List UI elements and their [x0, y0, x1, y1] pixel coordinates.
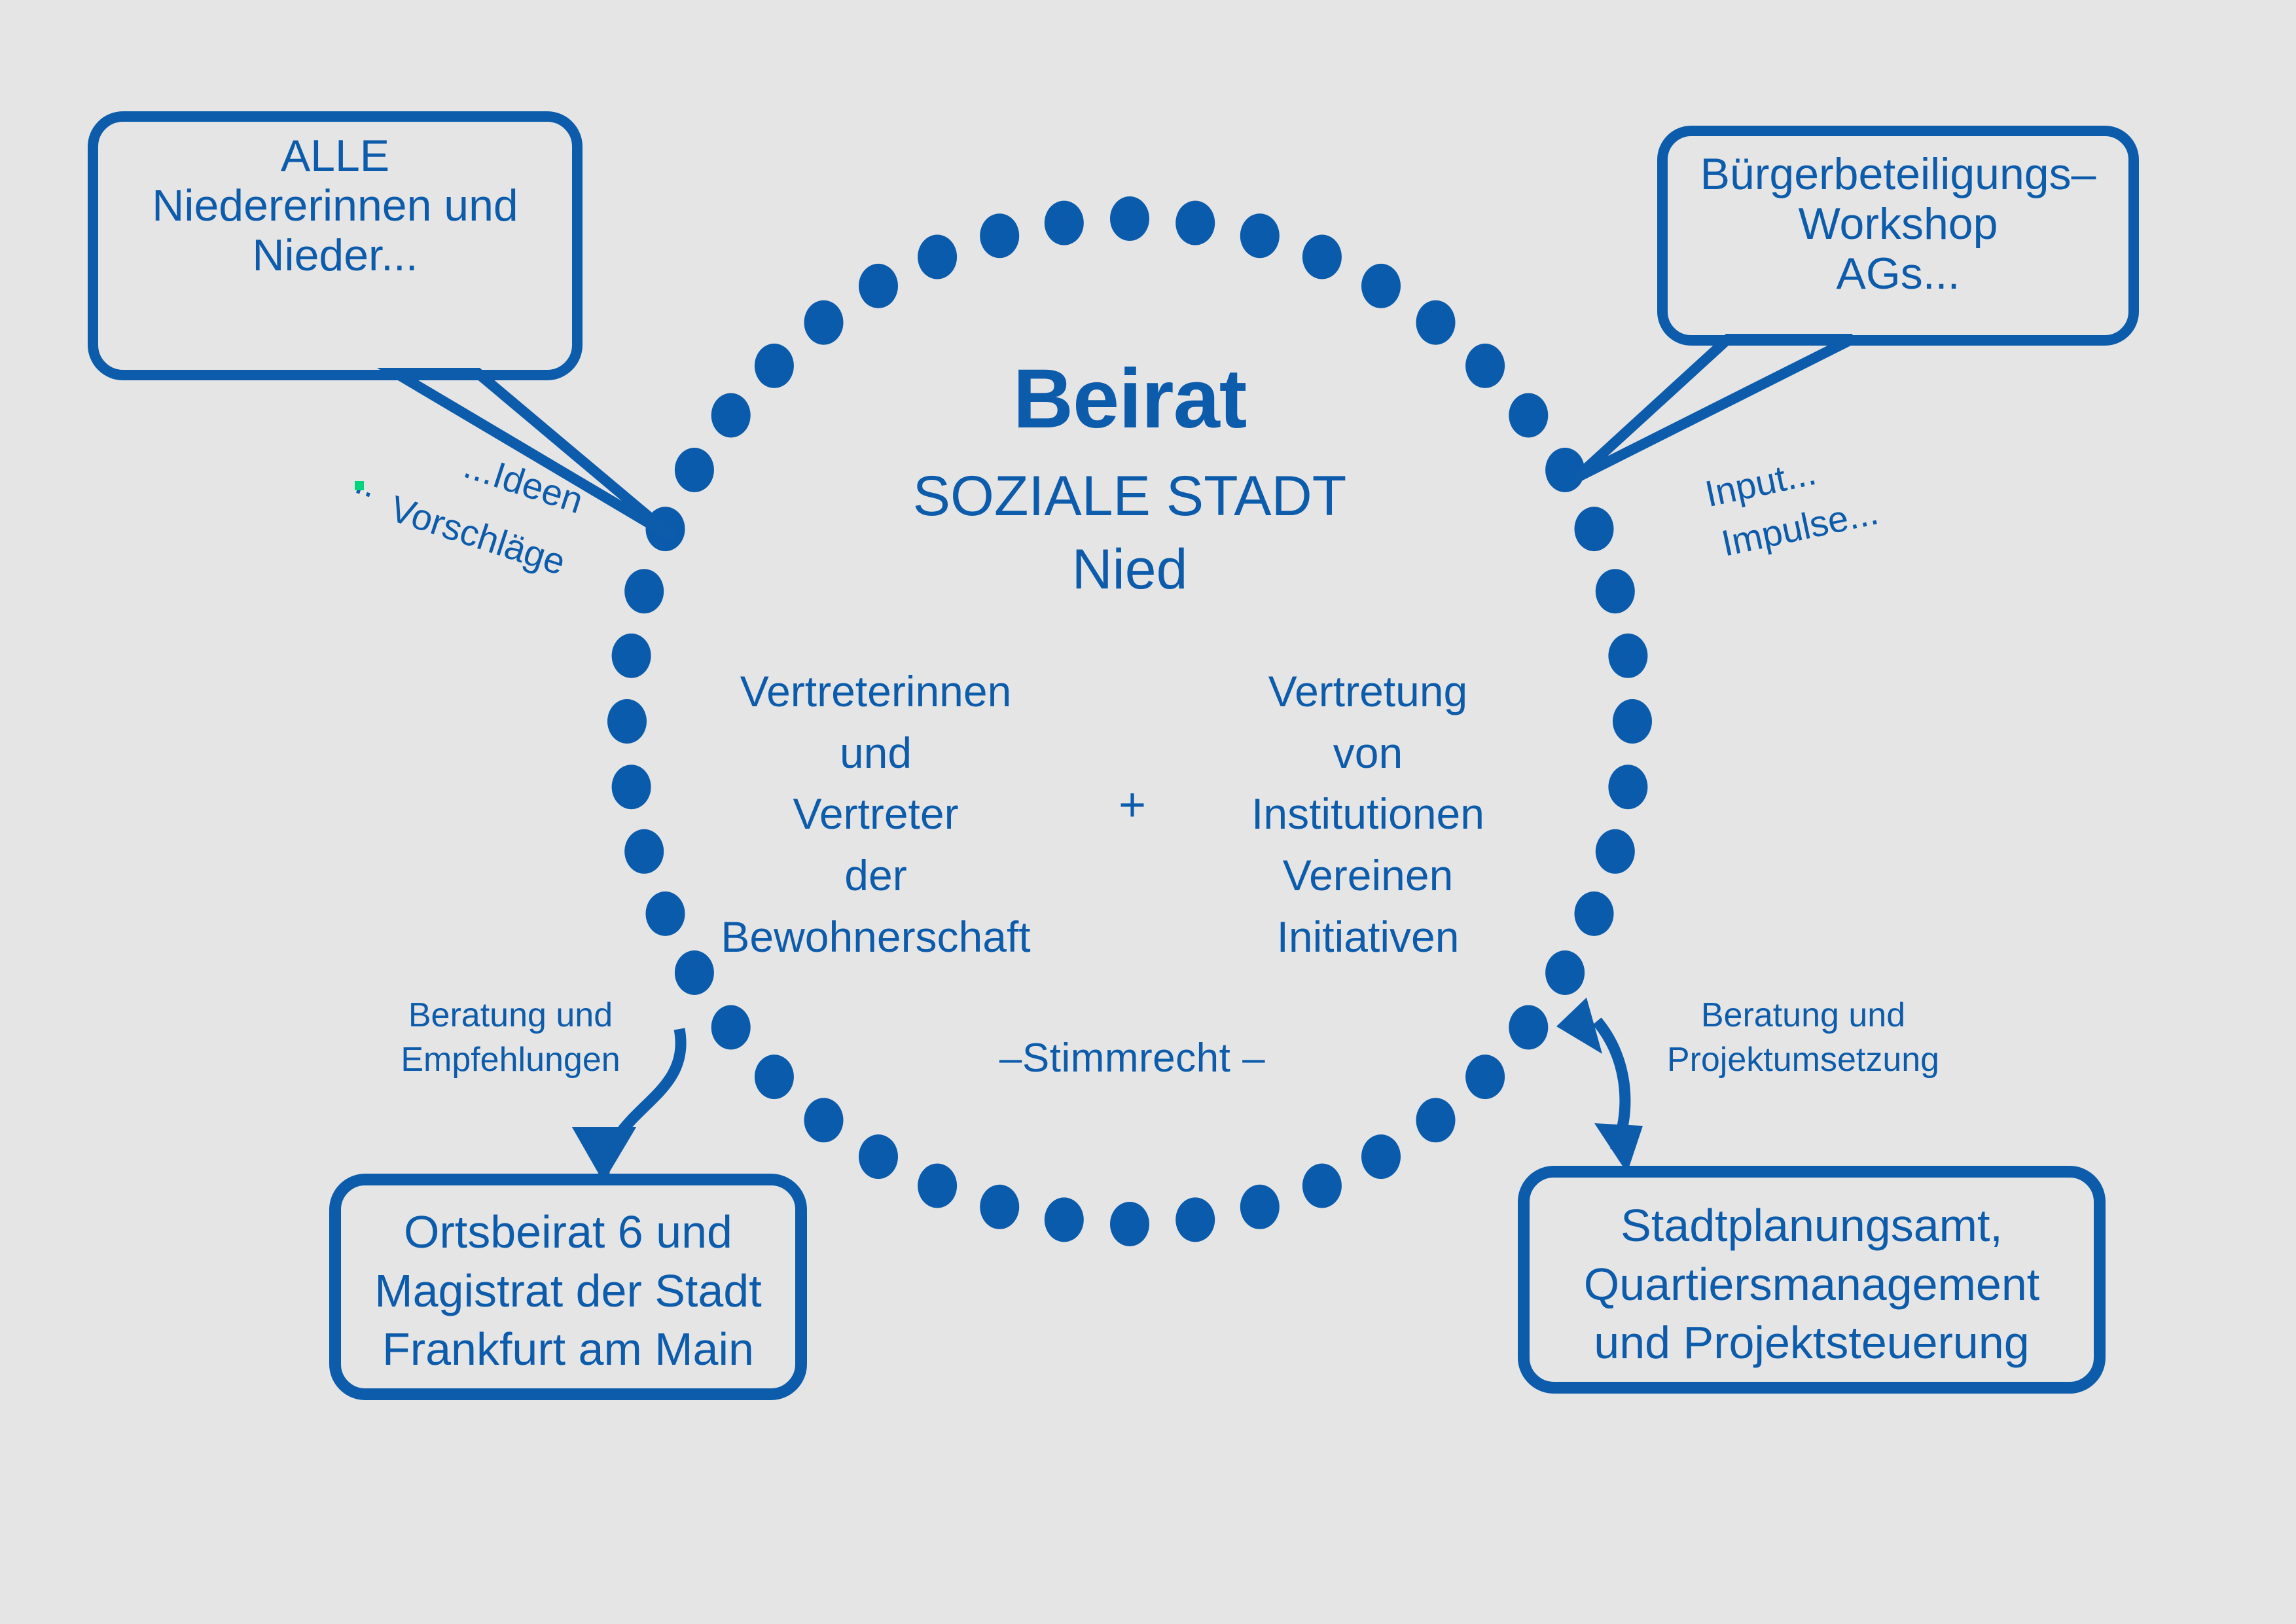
box-bottom-right-text: Stadtplanungsamt, Quartiersmanagement un…	[1524, 1197, 2100, 1373]
circle-dot	[1613, 699, 1652, 744]
circle-dot	[612, 765, 651, 809]
circle-dot	[918, 1164, 957, 1208]
circle-dot	[804, 1098, 844, 1142]
circle-dot	[755, 1055, 794, 1099]
circle-dot	[1575, 507, 1614, 551]
circle-dot	[1465, 1055, 1505, 1099]
circle-dot	[1110, 196, 1149, 241]
circle-dot	[980, 1185, 1019, 1229]
circle-dot	[607, 699, 647, 744]
circle-dot	[859, 1134, 898, 1179]
circle-dot	[646, 892, 685, 936]
circle-dot	[1175, 1197, 1215, 1242]
circle-dot	[1416, 300, 1456, 345]
circle-dot	[624, 569, 664, 613]
circle-dot	[980, 213, 1019, 258]
circle-dot	[1575, 892, 1614, 936]
circle-dot	[1110, 1202, 1149, 1246]
circle-dot	[1302, 235, 1342, 280]
circle-dot	[1596, 569, 1635, 613]
arrow-beratung-projektumsetzung	[1556, 998, 1643, 1173]
circle-dot	[1465, 344, 1505, 388]
speech-bubble-top-left-text: ALLE Niedererinnen und Nieder...	[93, 131, 577, 280]
green-marker-dot	[355, 481, 364, 490]
circle-dot	[1361, 1134, 1401, 1179]
circle-dot	[1302, 1164, 1342, 1208]
box-bottom-left-text: Ortsbeirat 6 und Magistrat der Stadt Fra…	[335, 1203, 801, 1379]
page-title: Beirat	[802, 352, 1457, 446]
circle-dot	[1240, 1185, 1280, 1229]
circle-dot	[1509, 1005, 1548, 1050]
circle-dot	[755, 344, 794, 388]
diagram-canvas: ALLE Niedererinnen und Nieder... Bürgerb…	[0, 0, 2296, 1624]
circle-dot	[711, 393, 751, 438]
circle-dot	[1175, 201, 1215, 245]
circle-dot	[1240, 213, 1280, 258]
circle-dot	[1361, 264, 1401, 308]
circle-dot	[1608, 765, 1647, 809]
annotation-beratung-projektumsetzung: Beratung und Projektumsetzung	[1643, 994, 1964, 1082]
circle-dot	[1045, 1197, 1084, 1242]
center-subtitle-line1: SOZIALE STADT	[802, 465, 1457, 528]
circle-dot	[612, 634, 651, 678]
circle-dot	[804, 300, 844, 345]
speech-bubble-top-right-text: Bürgerbeteiligungs– Workshop AGs...	[1662, 149, 2134, 298]
circle-dot	[1045, 201, 1084, 245]
circle-dot	[675, 448, 714, 492]
circle-dot	[1416, 1098, 1456, 1142]
center-left-column: Vertreterinnen und Vertreter der Bewohne…	[706, 661, 1046, 968]
voting-rights-note: –Stimmrecht –	[929, 1036, 1335, 1081]
circle-dot	[624, 829, 664, 874]
circle-dot	[918, 235, 957, 280]
circle-dot	[1545, 950, 1585, 995]
circle-dot	[1596, 829, 1635, 874]
plus-sign: +	[1073, 779, 1191, 832]
center-subtitle-line2: Nied	[802, 538, 1457, 601]
annotation-beratung-empfehlungen: Beratung und Empfehlungen	[367, 994, 655, 1082]
circle-dot	[859, 264, 898, 308]
circle-dot	[1608, 634, 1647, 678]
circle-dot	[711, 1005, 751, 1050]
center-right-column: Vertretung von Institutionen Vereinen In…	[1198, 661, 1538, 968]
circle-dot	[1509, 393, 1548, 438]
